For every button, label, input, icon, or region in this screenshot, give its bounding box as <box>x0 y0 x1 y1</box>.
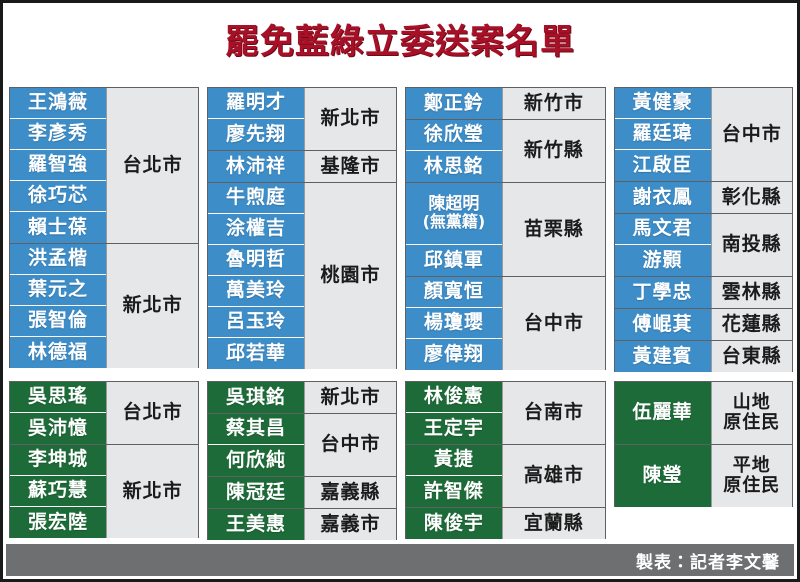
name-stack: 陳俊宇 <box>406 508 502 539</box>
name-stack: 黃捷許智傑 <box>406 445 502 507</box>
legislator-name-cell[interactable]: 黃捷 <box>406 445 502 476</box>
region-block: 洪孟楷葉元之張智倫林德福新北市 <box>10 244 198 368</box>
region-block: 黃建賓台東縣 <box>615 341 793 372</box>
legislator-name-cell[interactable]: 謝衣鳳 <box>615 182 711 213</box>
name-stack: 吳琪銘 <box>208 382 304 413</box>
legislator-name-cell[interactable]: 馬文君 <box>615 214 711 245</box>
region-block: 徐欣瑩林思銘新竹縣 <box>406 120 605 183</box>
region-column: 台東縣 <box>711 341 793 372</box>
legislator-name-cell[interactable]: 吳琪銘 <box>208 382 304 413</box>
legislator-name-cell[interactable]: 游顥 <box>615 245 711 276</box>
region-label-cell: 台東縣 <box>711 341 793 372</box>
region-label-cell: 平地原住民 <box>711 445 793 507</box>
region-label-cell: 苗栗縣 <box>502 183 605 276</box>
green-party-band: 吳思瑤吳沛憶台北市李坤城蘇巧慧張宏陸新北市吳琪銘新北市蔡其昌何欣純台中市陳冠廷嘉… <box>9 381 793 540</box>
legislator-name-cell[interactable]: 張宏陸 <box>10 507 106 538</box>
legislator-name-cell[interactable]: 許智傑 <box>406 476 502 507</box>
region-column: 新竹市 <box>502 88 605 119</box>
name-stack: 陳超明(無黨籍)邱鎮軍 <box>406 183 502 276</box>
region-block: 陳冠廷嘉義縣 <box>208 477 396 509</box>
region-label-cell: 基隆市 <box>304 151 396 182</box>
legislator-name-cell[interactable]: 邱若華 <box>208 338 304 369</box>
green-column-1: 吳思瑤吳沛憶台北市李坤城蘇巧慧張宏陸新北市 <box>9 381 199 538</box>
region-label-cell: 新竹市 <box>502 88 605 119</box>
region-column: 宜蘭縣 <box>502 508 605 539</box>
region-column: 新北市 <box>106 445 198 538</box>
name-stack: 陳冠廷 <box>208 477 304 508</box>
region-label-cell: 台中市 <box>502 277 605 370</box>
name-stack: 洪孟楷葉元之張智倫林德福 <box>10 244 106 368</box>
region-column: 台北市 <box>106 88 198 243</box>
region-block: 牛煦庭涂權吉魯明哲萬美玲呂玉玲邱若華桃園市 <box>208 183 396 369</box>
region-column: 台中市 <box>502 277 605 370</box>
legislator-name-cell[interactable]: 葉元之 <box>10 275 106 306</box>
region-label-cell: 桃園市 <box>304 183 396 369</box>
region-block: 王美惠嘉義市 <box>208 509 396 540</box>
region-label-cell: 台南市 <box>502 382 605 444</box>
name-stack: 伍麗華 <box>615 382 711 444</box>
name-stack: 鄭正鈐 <box>406 88 502 119</box>
name-stack: 黃健豪羅廷瑋江啟臣 <box>615 88 711 181</box>
region-column: 平地原住民 <box>711 445 793 507</box>
legislator-name-cell[interactable]: 李坤城 <box>10 445 106 476</box>
band-divider <box>9 372 793 381</box>
name-stack: 吳思瑤吳沛憶 <box>10 382 106 444</box>
name-stack: 傅崐萁 <box>615 309 711 340</box>
legislator-name-cell[interactable]: 羅廷瑋 <box>615 119 711 150</box>
region-block: 林沛祥基隆市 <box>208 151 396 183</box>
region-block: 陳俊宇宜蘭縣 <box>406 508 605 539</box>
region-label-cell: 新北市 <box>304 88 396 150</box>
region-block: 林俊憲王定宇台南市 <box>406 382 605 445</box>
name-stack: 顏寬恒楊瓊瓔廖偉翔 <box>406 277 502 370</box>
legislator-name-cell[interactable]: 林德福 <box>10 337 106 368</box>
region-label-cell: 台北市 <box>106 382 198 444</box>
legislator-name-cell[interactable]: 蘇巧慧 <box>10 476 106 507</box>
title-bar: 罷免藍綠立委送案名單 <box>3 25 797 59</box>
name-stack: 黃建賓 <box>615 341 711 372</box>
region-label-cell: 新北市 <box>106 445 198 538</box>
region-label-cell: 嘉義市 <box>304 509 396 540</box>
legislator-name-cell[interactable]: 王定宇 <box>406 413 502 444</box>
legislator-name-cell[interactable]: 萬美玲 <box>208 276 304 307</box>
region-label-cell: 高雄市 <box>502 445 605 507</box>
legislator-name-cell[interactable]: 徐欣瑩 <box>406 120 502 151</box>
page-title: 罷免藍綠立委送案名單 <box>225 25 575 59</box>
green-column-2: 吳琪銘新北市蔡其昌何欣純台中市陳冠廷嘉義縣王美惠嘉義市 <box>207 381 397 540</box>
region-label-cell: 台北市 <box>106 88 198 243</box>
region-block: 蔡其昌何欣純台中市 <box>208 414 396 477</box>
region-column: 新北市 <box>304 88 396 150</box>
legislator-name-cell[interactable]: 林思銘 <box>406 151 502 182</box>
region-label-cell: 嘉義縣 <box>304 477 396 508</box>
region-column: 桃園市 <box>304 183 396 369</box>
region-column: 花蓮縣 <box>711 309 793 340</box>
region-column: 台南市 <box>502 382 605 444</box>
legislator-name-cell[interactable]: 黃建賓 <box>615 341 711 372</box>
legislator-name-cell[interactable]: 洪孟楷 <box>10 244 106 275</box>
name-stack: 王鴻薇李彥秀羅智強徐巧芯賴士葆 <box>10 88 106 243</box>
legislator-name-cell[interactable]: 伍麗華 <box>615 382 711 444</box>
region-column: 苗栗縣 <box>502 183 605 276</box>
legislator-name-cell[interactable]: 羅智強 <box>10 150 106 181</box>
region-label-cell: 台中市 <box>304 414 396 476</box>
region-block: 陳超明(無黨籍)邱鎮軍苗栗縣 <box>406 183 605 277</box>
region-block: 陳瑩平地原住民 <box>615 445 793 507</box>
region-label-line2: 原住民 <box>723 413 780 433</box>
legislator-name-cell[interactable]: 王美惠 <box>208 509 304 540</box>
region-block: 謝衣鳳彰化縣 <box>615 182 793 214</box>
region-label-cell: 花蓮縣 <box>711 309 793 340</box>
name-stack: 王美惠 <box>208 509 304 540</box>
region-column: 嘉義縣 <box>304 477 396 508</box>
region-block: 丁學忠雲林縣 <box>615 277 793 309</box>
green-column-3: 林俊憲王定宇台南市黃捷許智傑高雄市陳俊宇宜蘭縣 <box>405 381 606 539</box>
region-column: 新竹縣 <box>502 120 605 182</box>
infographic-page: 罷免藍綠立委送案名單 王鴻薇李彥秀羅智強徐巧芯賴士葆台北市洪孟楷葉元之張智倫林德… <box>0 0 800 582</box>
name-stack: 馬文君游顥 <box>615 214 711 276</box>
region-label-line1: 山地 <box>733 393 771 413</box>
legislator-name-cell[interactable]: 林俊憲 <box>406 382 502 413</box>
region-label-cell: 新竹縣 <box>502 120 605 182</box>
blue-column-3: 鄭正鈐新竹市徐欣瑩林思銘新竹縣陳超明(無黨籍)邱鎮軍苗栗縣顏寬恒楊瓊瓔廖偉翔台中… <box>405 87 606 370</box>
legislator-name-cell[interactable]: 陳超明(無黨籍) <box>406 183 502 245</box>
region-label-line2: 原住民 <box>723 476 780 496</box>
legislator-party-note: (無黨籍) <box>423 214 486 231</box>
name-list-grid: 王鴻薇李彥秀羅智強徐巧芯賴士葆台北市洪孟楷葉元之張智倫林德福新北市羅明才廖先翔新… <box>9 87 793 540</box>
blue-column-2: 羅明才廖先翔新北市林沛祥基隆市牛煦庭涂權吉魯明哲萬美玲呂玉玲邱若華桃園市 <box>207 87 397 369</box>
legislator-name-cell[interactable]: 吳沛憶 <box>10 413 106 444</box>
name-stack: 林俊憲王定宇 <box>406 382 502 444</box>
legislator-name-cell[interactable]: 張智倫 <box>10 306 106 337</box>
region-label-cell: 南投縣 <box>711 214 793 276</box>
legislator-name-cell[interactable]: 蔡其昌 <box>208 414 304 445</box>
name-stack: 牛煦庭涂權吉魯明哲萬美玲呂玉玲邱若華 <box>208 183 304 369</box>
name-stack: 謝衣鳳 <box>615 182 711 213</box>
name-stack: 李坤城蘇巧慧張宏陸 <box>10 445 106 538</box>
credit-text: 製表：記者李文馨 <box>636 548 780 573</box>
region-column: 台中市 <box>304 414 396 476</box>
legislator-name-cell[interactable]: 徐巧芯 <box>10 181 106 212</box>
legislator-name-cell[interactable]: 吳思瑤 <box>10 382 106 413</box>
name-stack: 丁學忠 <box>615 277 711 308</box>
region-block: 王鴻薇李彥秀羅智強徐巧芯賴士葆台北市 <box>10 88 198 244</box>
blue-party-band: 王鴻薇李彥秀羅智強徐巧芯賴士葆台北市洪孟楷葉元之張智倫林德福新北市羅明才廖先翔新… <box>9 87 793 372</box>
name-stack: 林沛祥 <box>208 151 304 182</box>
legislator-name-cell[interactable]: 羅明才 <box>208 88 304 119</box>
region-block: 黃捷許智傑高雄市 <box>406 445 605 508</box>
legislator-name-cell[interactable]: 廖偉翔 <box>406 339 502 370</box>
legislator-name-cell[interactable]: 李彥秀 <box>10 119 106 150</box>
legislator-name-cell[interactable]: 賴士葆 <box>10 212 106 243</box>
region-label-cell: 彰化縣 <box>711 182 793 213</box>
region-label-cell: 宜蘭縣 <box>502 508 605 539</box>
region-column: 台中市 <box>711 88 793 181</box>
legislator-name-cell[interactable]: 陳瑩 <box>615 445 711 507</box>
legislator-name-cell[interactable]: 涂權吉 <box>208 214 304 245</box>
footer-bar: 製表：記者李文馨 <box>6 544 794 576</box>
green-column-4: 伍麗華山地原住民陳瑩平地原住民 <box>614 381 794 507</box>
region-column: 山地原住民 <box>711 382 793 444</box>
region-label-cell: 新北市 <box>304 382 396 413</box>
region-column: 彰化縣 <box>711 182 793 213</box>
legislator-name-cell[interactable]: 何欣純 <box>208 445 304 476</box>
legislator-name-cell[interactable]: 廖先翔 <box>208 119 304 150</box>
legislator-name-cell[interactable]: 黃健豪 <box>615 88 711 119</box>
legislator-name-cell[interactable]: 牛煦庭 <box>208 183 304 214</box>
region-column: 新北市 <box>106 244 198 368</box>
region-label-cell: 新北市 <box>106 244 198 368</box>
region-block: 鄭正鈐新竹市 <box>406 88 605 120</box>
legislator-name-cell[interactable]: 邱鎮軍 <box>406 245 502 276</box>
name-stack: 羅明才廖先翔 <box>208 88 304 150</box>
legislator-name-cell[interactable]: 魯明哲 <box>208 245 304 276</box>
region-column: 嘉義市 <box>304 509 396 540</box>
region-column: 南投縣 <box>711 214 793 276</box>
legislator-name-cell[interactable]: 陳俊宇 <box>406 508 502 539</box>
name-stack: 蔡其昌何欣純 <box>208 414 304 476</box>
region-block: 伍麗華山地原住民 <box>615 382 793 445</box>
legislator-name-cell[interactable]: 江啟臣 <box>615 150 711 181</box>
region-block: 馬文君游顥南投縣 <box>615 214 793 277</box>
region-column: 高雄市 <box>502 445 605 507</box>
region-block: 傅崐萁花蓮縣 <box>615 309 793 341</box>
legislator-name-cell[interactable]: 鄭正鈐 <box>406 88 502 119</box>
name-stack: 徐欣瑩林思銘 <box>406 120 502 182</box>
region-label-line1: 平地 <box>733 456 771 476</box>
region-column: 台北市 <box>106 382 198 444</box>
region-column: 雲林縣 <box>711 277 793 308</box>
legislator-name-cell[interactable]: 陳冠廷 <box>208 477 304 508</box>
blue-column-1: 王鴻薇李彥秀羅智強徐巧芯賴士葆台北市洪孟楷葉元之張智倫林德福新北市 <box>9 87 199 368</box>
legislator-name-cell[interactable]: 林沛祥 <box>208 151 304 182</box>
region-block: 吳思瑤吳沛憶台北市 <box>10 382 198 445</box>
region-block: 黃健豪羅廷瑋江啟臣台中市 <box>615 88 793 182</box>
legislator-name-cell[interactable]: 傅崐萁 <box>615 309 711 340</box>
legislator-name-cell[interactable]: 楊瓊瓔 <box>406 308 502 339</box>
legislator-name-cell[interactable]: 丁學忠 <box>615 277 711 308</box>
legislator-name-cell[interactable]: 顏寬恒 <box>406 277 502 308</box>
legislator-name-cell[interactable]: 呂玉玲 <box>208 307 304 338</box>
region-block: 顏寬恒楊瓊瓔廖偉翔台中市 <box>406 277 605 370</box>
region-label-cell: 雲林縣 <box>711 277 793 308</box>
blue-column-4: 黃健豪羅廷瑋江啟臣台中市謝衣鳳彰化縣馬文君游顥南投縣丁學忠雲林縣傅崐萁花蓮縣黃建… <box>614 87 794 372</box>
name-stack: 陳瑩 <box>615 445 711 507</box>
legislator-name-cell[interactable]: 王鴻薇 <box>10 88 106 119</box>
region-block: 吳琪銘新北市 <box>208 382 396 414</box>
region-column: 新北市 <box>304 382 396 413</box>
region-block: 羅明才廖先翔新北市 <box>208 88 396 151</box>
region-label-cell: 台中市 <box>711 88 793 181</box>
region-label-cell: 山地原住民 <box>711 382 793 444</box>
region-column: 基隆市 <box>304 151 396 182</box>
region-block: 李坤城蘇巧慧張宏陸新北市 <box>10 445 198 538</box>
